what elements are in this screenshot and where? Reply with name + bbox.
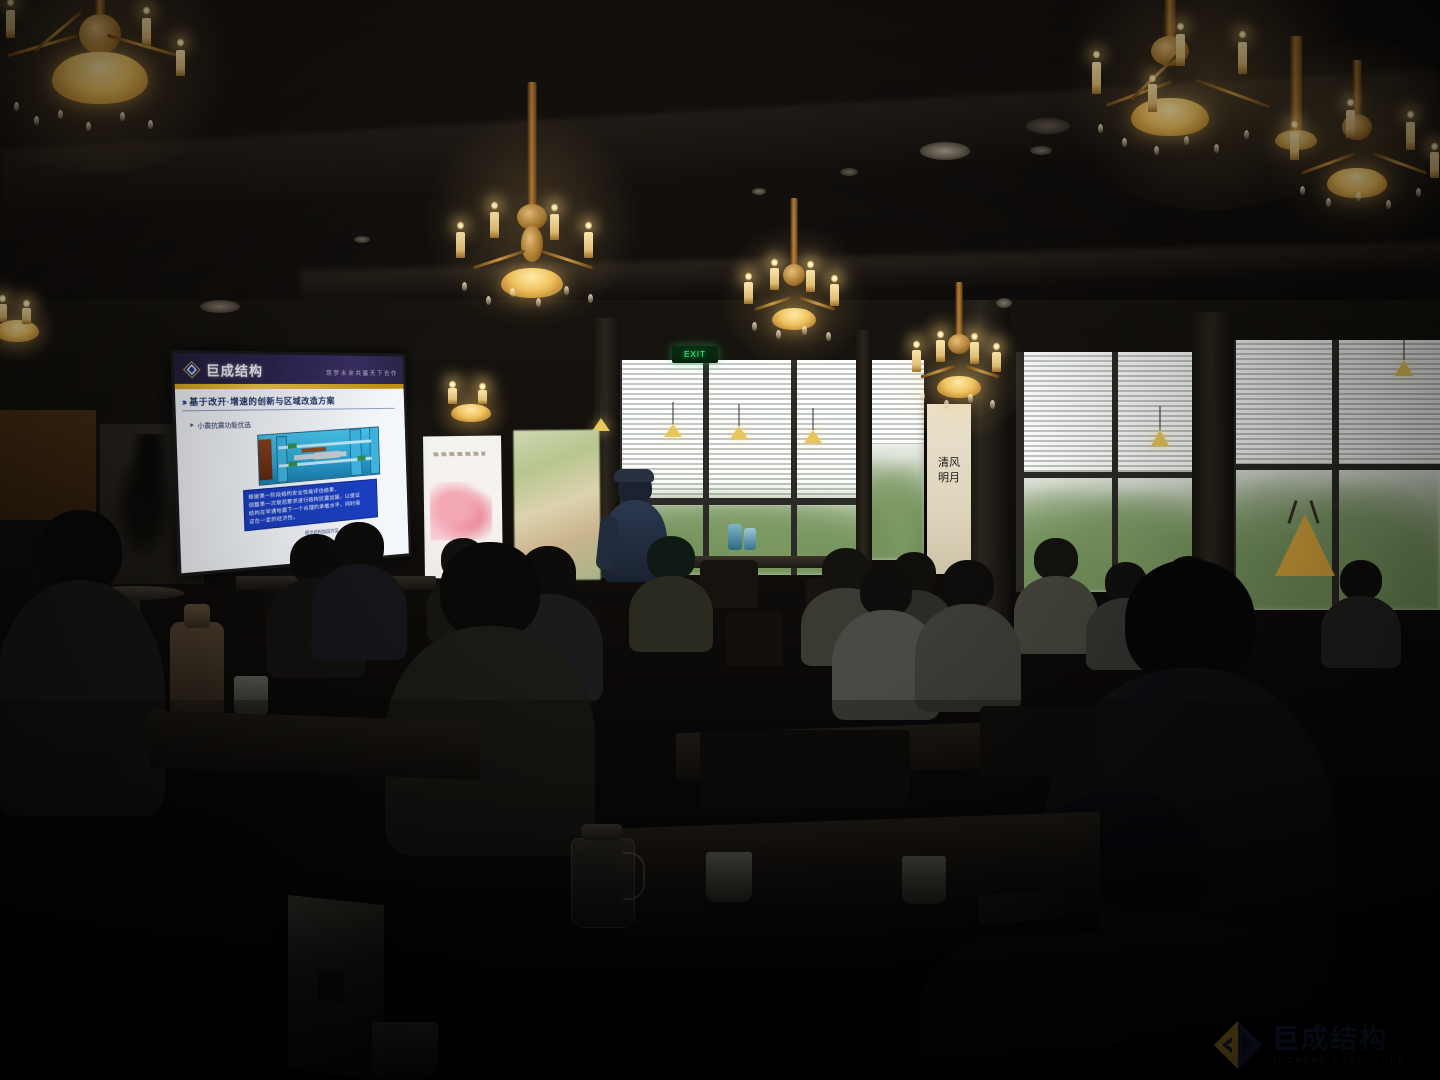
chair (726, 612, 782, 666)
watermark: 巨成结构 JUCHENG STRUCTURE (1212, 1014, 1428, 1076)
slide-brand: 巨成结构 (206, 360, 264, 380)
slide-header-right-text: 筑梦未来共赢天下合作 (326, 368, 398, 377)
presenter-cap (614, 469, 654, 482)
ceiling-spot (752, 188, 766, 195)
pendant-lamp (1148, 406, 1172, 460)
chandelier-center-right (900, 282, 1018, 432)
bullet-arrow-icon: ➤ (189, 421, 195, 428)
exit-sign-label: EXIT (684, 350, 706, 359)
ceiling-spot (200, 300, 240, 313)
chandelier-left-small (0, 300, 52, 360)
water-bottle (728, 524, 742, 550)
slide-bullet-text: 小震抗震功能优选 (197, 419, 251, 430)
jucheng-diamond-logo (1212, 1019, 1264, 1071)
slide-title-underline (182, 408, 395, 412)
chandelier-far-right (1270, 60, 1440, 260)
chevron-icon: ››› (182, 397, 186, 408)
scroll-text: 清风明月 (938, 456, 960, 486)
pendant-lamp (1392, 338, 1416, 392)
slide-title: 基于改开·增速的创新与区域改造方案 (189, 395, 335, 408)
slide-title-row: ››› 基于改开·增速的创新与区域改造方案 (182, 394, 400, 408)
photo-scene: EXIT 清风明月 (0, 0, 1440, 1080)
structural-pillar (856, 330, 872, 580)
slide-diagram (257, 426, 380, 485)
pendant-lamp (802, 408, 824, 458)
watermark-brand-cn: 巨成结构 (1272, 1026, 1406, 1053)
audience-member (634, 536, 708, 644)
watermark-brand-en: JUCHENG STRUCTURE (1272, 1057, 1406, 1065)
pendant-lamp (728, 404, 750, 454)
water-bottle (744, 528, 756, 550)
audience-member (318, 522, 400, 654)
ceiling-spot (1030, 146, 1052, 155)
chandelier-small-wall (436, 382, 506, 442)
watermark-text: 巨成结构 JUCHENG STRUCTURE (1272, 1026, 1406, 1065)
jucheng-diamond-logo (182, 361, 201, 379)
ceiling-spot (354, 236, 370, 243)
chandelier-top-left (0, 0, 230, 190)
ceiling-spot (840, 168, 858, 176)
chandelier-center-left (432, 82, 632, 322)
audience-member (1326, 560, 1396, 660)
exit-sign: EXIT (672, 346, 718, 363)
ceiling-spot (920, 142, 970, 160)
wall-wood-panel (0, 410, 96, 520)
slide-bullet: ➤ 小震抗震功能优选 (189, 419, 251, 431)
pendant-lamp (662, 402, 684, 452)
slide-header-rule (175, 384, 404, 389)
audience-member (922, 560, 1014, 708)
chandelier-center (730, 198, 858, 358)
